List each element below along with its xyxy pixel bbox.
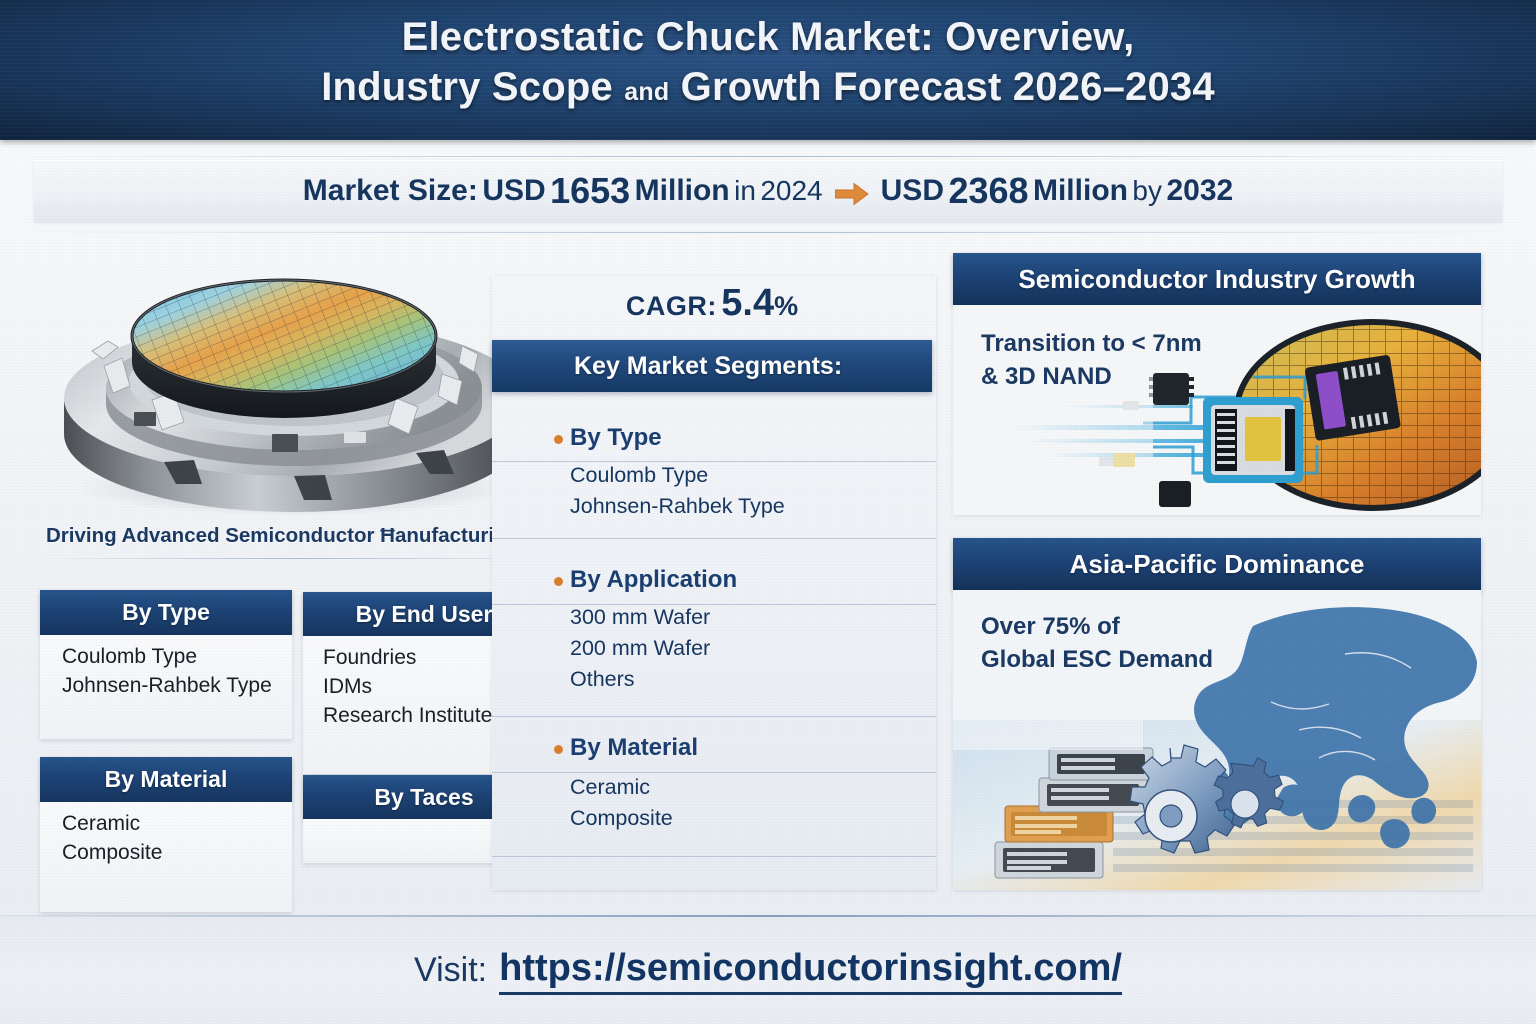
market-size-value-to: 2368: [948, 170, 1028, 212]
segment-group-by-application[interactable]: By Application 300 mm Wafer 200 mm Wafer…: [570, 566, 737, 695]
electrostatic-chuck-image: [44, 248, 544, 520]
bullet-icon: [554, 435, 563, 444]
divider-below-market-size: [34, 232, 1502, 233]
cagr-label: CAGR:: [626, 291, 717, 321]
panel-semiconductor-industry-growth-body: Transition to < 7nm & 3D NAND: [953, 305, 1481, 515]
list-item: Coulomb Type: [62, 643, 292, 672]
list-item: Johnsen-Rahbek Type: [570, 491, 785, 522]
bullet-icon: [554, 745, 563, 754]
list-item: Ceramic: [570, 772, 698, 803]
footer: Visit: https://semiconductorinsight.com/: [0, 917, 1536, 1024]
apac-text-line-2: Global ESC Demand: [981, 643, 1213, 676]
apac-of-label: of: [1090, 613, 1119, 640]
header-banner: Electrostatic Chuck Market: Overview, In…: [0, 0, 1536, 140]
market-size-unit-from: Million: [635, 174, 730, 208]
apac-text-line-1: Over 75% of: [981, 610, 1213, 643]
market-size-lead: Market Size:: [303, 174, 478, 208]
segment-card-by-material-title: By Material: [40, 757, 292, 802]
list-item: Composite: [62, 839, 292, 868]
apac-over-label: Over: [981, 613, 1042, 640]
panel-asia-pacific-dominance-title: Asia-Pacific Dominance: [953, 538, 1481, 590]
market-size-value-from: 1653: [550, 170, 630, 212]
segment-group-by-material-label: By Material: [570, 734, 698, 761]
list-item: 300 mm Wafer: [570, 602, 737, 633]
list-item: Coulomb Type: [570, 460, 785, 491]
page-title: Electrostatic Chuck Market: Overview, In…: [0, 12, 1536, 112]
cagr-percent: %: [774, 291, 798, 321]
cagr-value: 5.4: [721, 282, 774, 324]
market-size-year-to: 2032: [1166, 174, 1233, 208]
key-market-segments-panel: CAGR: 5.4% Key Market Segments: By Type …: [492, 276, 936, 890]
title-line-1: Electrostatic Chuck Market: Overview,: [0, 12, 1536, 62]
segment-group-by-type[interactable]: By Type Coulomb Type Johnsen-Rahbek Type: [570, 424, 785, 522]
title-line-2-and: and: [624, 78, 669, 106]
panel-asia-pacific-dominance-text: Over 75% of Global ESC Demand: [981, 610, 1213, 676]
panel-semiconductor-industry-growth[interactable]: Semiconductor Industry Growth: [953, 253, 1481, 515]
title-line-2-part-a: Industry Scope: [321, 65, 613, 109]
segment-group-by-material-title: By Material: [570, 734, 698, 762]
cagr-readout: CAGR: 5.4%: [492, 282, 932, 325]
list-item: Johnsen-Rahbek Type: [62, 672, 292, 701]
segment-group-by-application-title: By Application: [570, 566, 737, 594]
market-size-band: Market Size: USD 1653 Million in 2024 US…: [34, 160, 1502, 222]
segment-card-by-type-title: By Type: [40, 590, 292, 635]
left-caption: Driving Advanced Semiconductor Ħanufactu…: [46, 524, 566, 548]
infographic-root: Electrostatic Chuck Market: Overview, In…: [0, 0, 1536, 1024]
segment-card-by-material-body: Ceramic Composite: [40, 802, 292, 912]
growth-text-line-2: & 3D NAND: [981, 360, 1202, 393]
list-item: Ceramic: [62, 810, 292, 839]
market-size-unit-to: Million: [1033, 174, 1128, 208]
segment-group-by-application-label: By Application: [570, 566, 737, 593]
market-size-by-label: by: [1132, 175, 1162, 207]
growth-text-line-1: Transition to < 7nm: [981, 327, 1202, 360]
bullet-icon: [554, 577, 563, 586]
divider-below-caption: [38, 558, 558, 559]
panel-asia-pacific-dominance-body: Over 75% of Global ESC Demand: [953, 590, 1481, 890]
market-size-usd-to: USD: [881, 174, 944, 208]
market-size-year-from: 2024: [760, 175, 822, 207]
segment-card-by-type-body: Coulomb Type Johnsen-Rahbek Type: [40, 635, 292, 739]
segment-group-by-type-title: By Type: [570, 424, 785, 452]
key-market-segments-header: Key Market Segments:: [492, 340, 932, 392]
footer-url-link[interactable]: https://semiconductorinsight.com/: [499, 947, 1122, 995]
segment-group-by-material[interactable]: By Material Ceramic Composite: [570, 734, 698, 834]
segment-group-by-type-label: By Type: [570, 424, 662, 451]
list-item: 200 mm Wafer: [570, 633, 737, 664]
list-item: Composite: [570, 803, 698, 834]
arrow-right-icon: [835, 181, 869, 207]
list-item: Others: [570, 664, 737, 695]
segment-card-by-material[interactable]: By Material Ceramic Composite: [40, 757, 292, 912]
key-market-segments-heading-text: Key Market Segments:: [574, 352, 842, 381]
apac-percent-value: 75%: [1042, 613, 1090, 640]
market-size-usd-from: USD: [482, 174, 545, 208]
panel-semiconductor-industry-growth-text: Transition to < 7nm & 3D NAND: [981, 327, 1202, 393]
panel-semiconductor-industry-growth-title: Semiconductor Industry Growth: [953, 253, 1481, 305]
title-line-2-part-b: Growth Forecast 2026–2034: [681, 65, 1215, 109]
divider-above-market-size: [34, 156, 1502, 157]
panel-asia-pacific-dominance[interactable]: Asia-Pacific Dominance: [953, 538, 1481, 890]
footer-visit-label: Visit:: [414, 951, 487, 990]
market-size-in-label: in: [734, 175, 756, 207]
segment-card-by-type[interactable]: By Type Coulomb Type Johnsen-Rahbek Type: [40, 590, 292, 739]
title-line-2: Industry Scope and Growth Forecast 2026–…: [0, 62, 1536, 112]
